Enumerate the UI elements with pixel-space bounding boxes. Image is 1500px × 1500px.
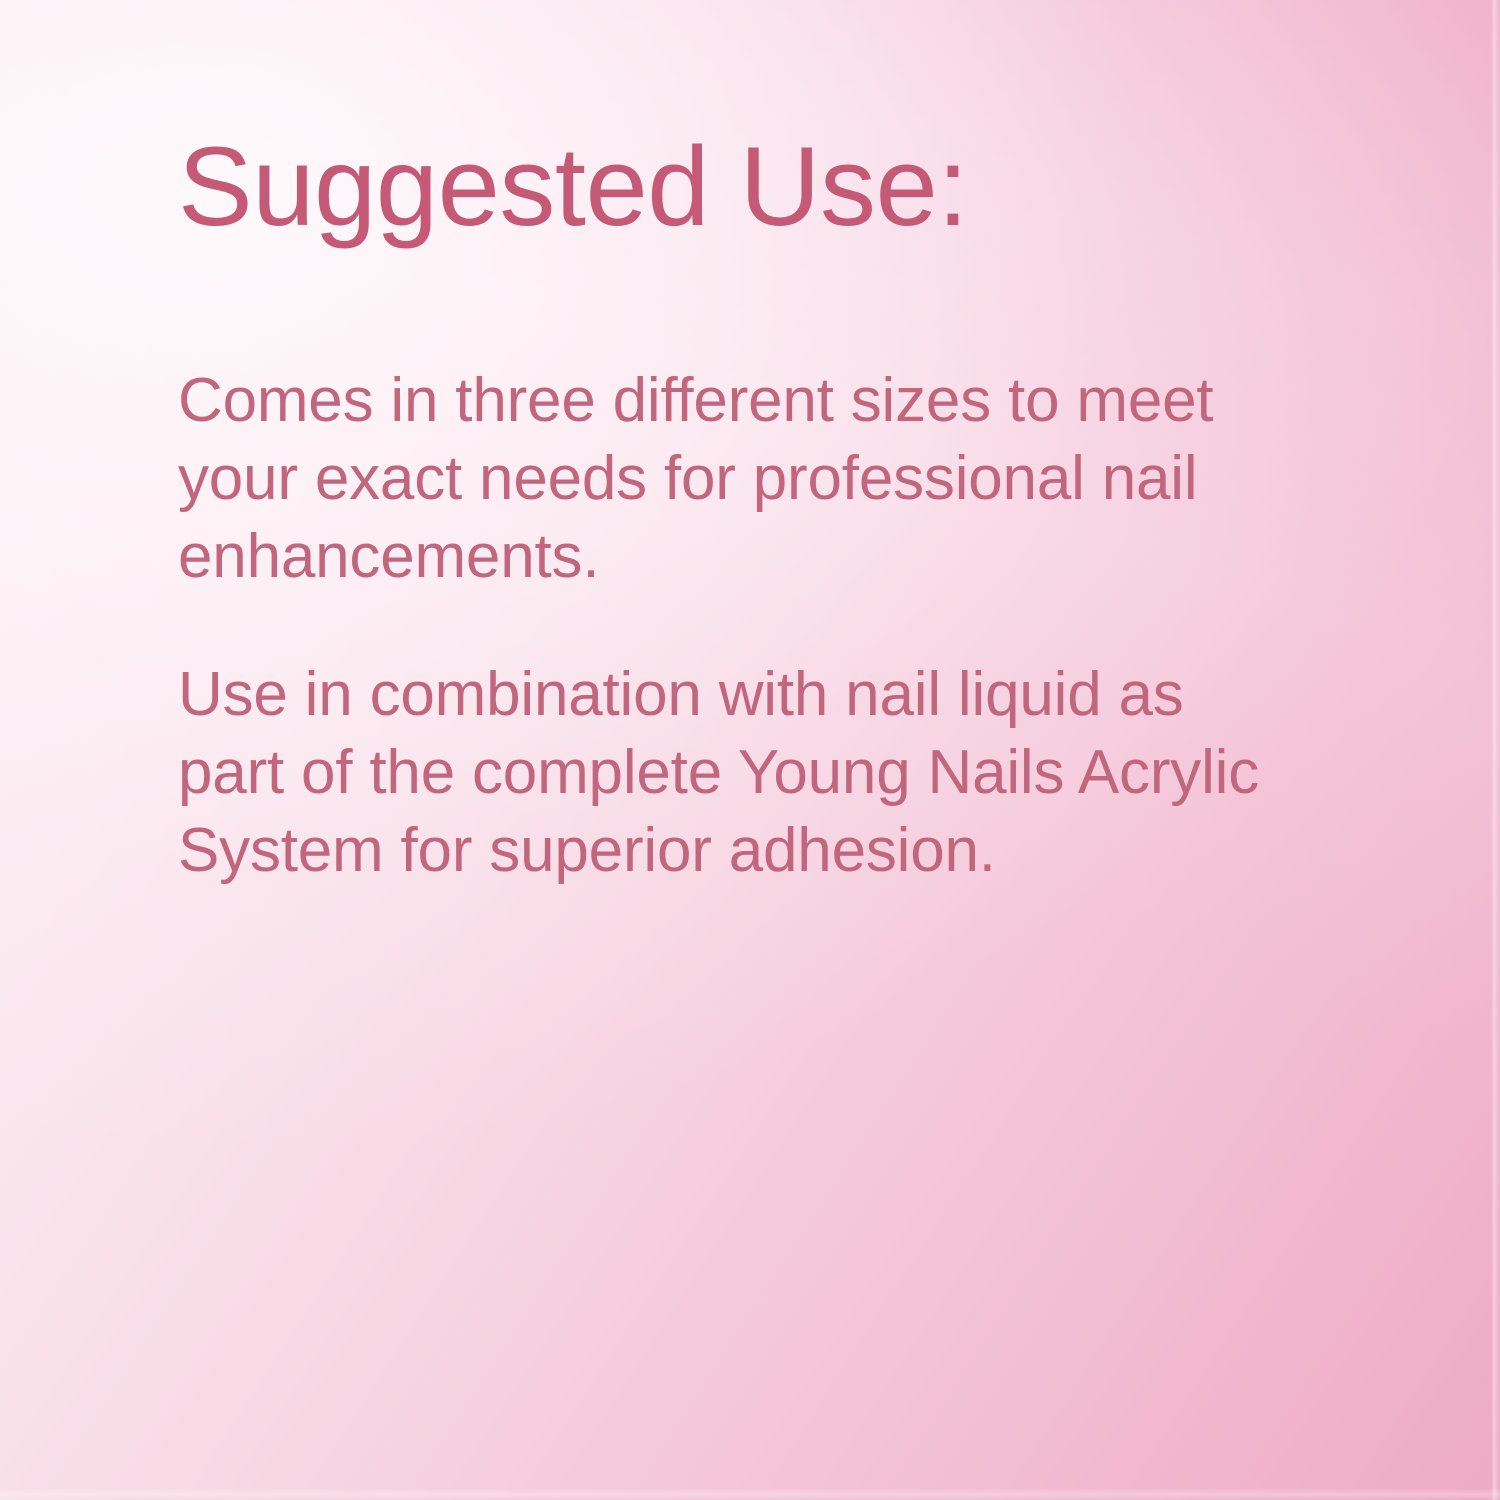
text-content-block: Suggested Use: Comes in three different … — [178, 0, 1268, 1500]
paragraph-usage: Use in combination with nail liquid as p… — [178, 656, 1263, 890]
body-copy-group: Comes in three different sizes to meet y… — [178, 362, 1263, 890]
product-info-card: Suggested Use: Comes in three different … — [0, 0, 1500, 1500]
page-title: Suggested Use: — [178, 131, 968, 243]
paragraph-sizes: Comes in three different sizes to meet y… — [178, 362, 1263, 596]
background-right-edge-highlight — [1486, 0, 1500, 1500]
